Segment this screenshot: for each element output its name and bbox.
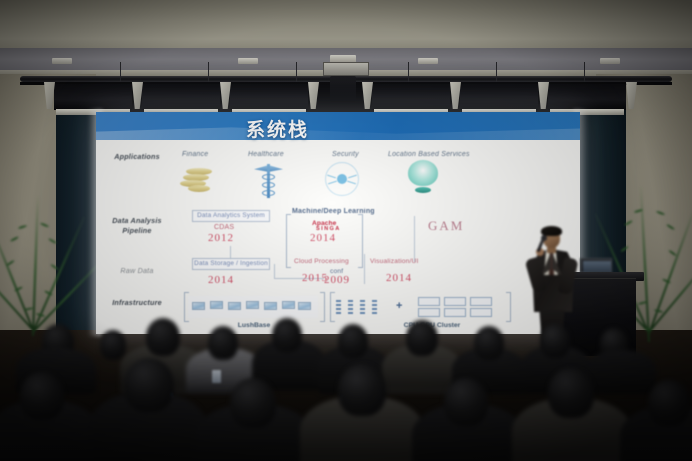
singa-year: 2014 — [310, 232, 336, 244]
visualization-ui-year: 2014 — [386, 272, 412, 284]
raw-data-year: 2014 — [208, 274, 234, 286]
visualization-ui-label: Visualization/UI — [370, 258, 419, 265]
projection-screen: 系统栈 Applications Data Analysis Pipeline … — [96, 112, 580, 334]
security-bug-icon — [325, 162, 359, 196]
row-label-infrastructure: Infrastructure — [98, 298, 176, 308]
soffit-downlight — [600, 58, 620, 64]
gpu-rack-small — [336, 298, 388, 318]
stage-light-fixture — [372, 84, 450, 110]
cdas-name: CDAS — [214, 224, 234, 231]
coins-icon — [178, 164, 220, 198]
app-label-location-based-services: Location Based Services — [388, 151, 470, 158]
conference-photo-scene: 系统栈 Applications Data Analysis Pipeline … — [0, 0, 692, 461]
app-label-healthcare: Healthcare — [248, 151, 284, 158]
cloud-processing-label: Cloud Processing — [294, 258, 349, 265]
stage-light-fixture — [54, 84, 132, 110]
rack-group-left — [188, 296, 318, 318]
plus-sign: + — [396, 300, 402, 312]
slide-title: 系统栈 — [246, 115, 309, 142]
slide-body: Applications Data Analysis Pipeline Raw … — [96, 140, 580, 334]
cloud-processing-year: 2015 — [302, 272, 328, 284]
app-label-security: Security — [332, 151, 359, 158]
light-bracket — [308, 82, 319, 109]
location-pin-icon — [404, 160, 442, 196]
cdas-header-box: Data Analytics System — [192, 210, 270, 222]
ceiling-projector-icon — [330, 76, 356, 102]
gam-label: GAM — [428, 218, 464, 234]
row-label-raw-data: Raw Data — [102, 266, 172, 276]
stage-light-fixture — [460, 84, 538, 110]
cdas-box-title: Data Analytics System — [193, 212, 269, 219]
caduceus-icon — [254, 162, 284, 200]
soffit-downlight — [52, 58, 72, 64]
row-label-applications: Applications — [102, 152, 172, 162]
raw-data-header-box: Data Storage / Ingestion — [192, 258, 270, 270]
stage-light-fixture — [548, 84, 626, 110]
phone-screen — [212, 370, 221, 383]
projector-mount — [323, 62, 369, 76]
stage-light-fixture — [230, 84, 308, 110]
soffit-downlight — [238, 58, 258, 64]
stage-light-fixture — [142, 84, 220, 110]
raw-box-title: Data Storage / Ingestion — [193, 260, 269, 267]
cdas-year: 2012 — [208, 232, 234, 244]
gpu-box-group — [418, 296, 498, 320]
row-label-data-analysis-pipeline: Data Analysis Pipeline — [102, 216, 172, 235]
soffit-downlight — [418, 58, 438, 64]
app-label-finance: Finance — [182, 151, 208, 158]
ceiling-upper — [0, 0, 692, 52]
microphone-head — [541, 235, 547, 241]
